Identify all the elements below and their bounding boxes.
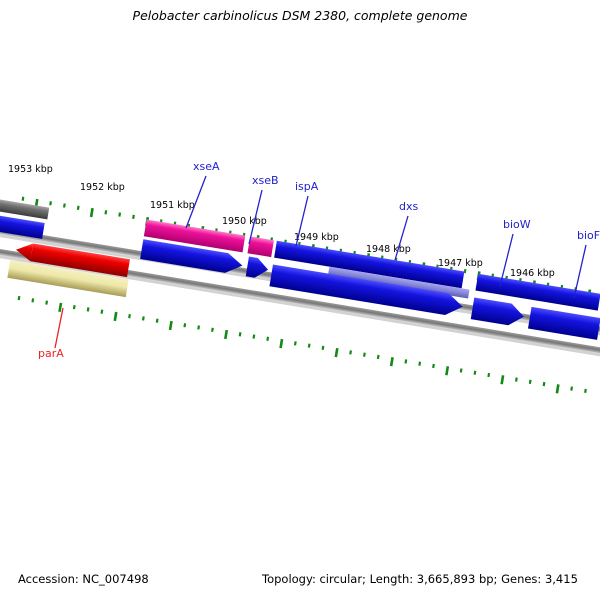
gene-label-xseA[interactable]: xseA — [193, 160, 220, 173]
gene-label-bioF[interactable]: bioF — [577, 229, 600, 242]
scale-tick-label: 1953 kbp — [8, 164, 53, 175]
gene-leader-parA — [55, 308, 63, 348]
gene-label-parA[interactable]: parA — [38, 347, 64, 360]
scale-tick-label: 1947 kbp — [438, 258, 483, 269]
genome-stats-text: Topology: circular; Length: 3,665,893 bp… — [262, 572, 578, 586]
genome-map-canvas[interactable]: 1953 kbp 1952 kbp 1951 kbp 1950 kbp 1949… — [0, 0, 600, 600]
accession-text: Accession: NC_007498 — [18, 572, 149, 586]
scale-tick-label: 1946 kbp — [510, 268, 555, 279]
gene-label-xseB[interactable]: xseB — [252, 174, 279, 187]
scale-tick-label: 1949 kbp — [294, 232, 339, 243]
feature-blue-bioW[interactable] — [471, 297, 526, 327]
scale-tick-label: 1950 kbp — [222, 216, 267, 227]
scale-tick-label: 1948 kbp — [366, 244, 411, 255]
feature-blue-bioF[interactable] — [528, 307, 600, 340]
gene-label-ispA[interactable]: ispA — [295, 180, 319, 193]
gene-label-bioW[interactable]: bioW — [503, 218, 531, 231]
scale-tick-label: 1951 kbp — [150, 200, 195, 211]
gene-leader-bioF — [574, 245, 586, 298]
scale-tick-label: 1952 kbp — [80, 182, 125, 193]
genome-map-viewer[interactable]: Pelobacter carbinolicus DSM 2380, comple… — [0, 0, 600, 600]
feature-magenta-xseB[interactable] — [247, 236, 273, 257]
feature-gray-left[interactable] — [0, 197, 49, 220]
gene-label-dxs[interactable]: dxs — [399, 200, 418, 213]
